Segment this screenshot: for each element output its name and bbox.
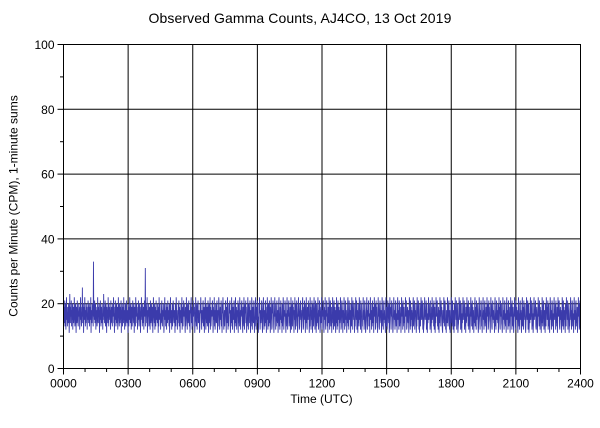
x-tick-label: 1200 (309, 377, 336, 391)
x-tick-label: 1800 (438, 377, 465, 391)
axis-tick-labels: 0000030006000900120015001800210024000204… (34, 38, 594, 391)
x-tick-label: 0000 (50, 377, 77, 391)
y-tick-label: 60 (41, 168, 55, 182)
x-tick-label: 0300 (115, 377, 142, 391)
x-tick-label: 1500 (373, 377, 400, 391)
y-tick-label: 80 (41, 103, 55, 117)
y-tick-label: 100 (34, 38, 54, 52)
x-tick-label: 2400 (567, 377, 594, 391)
gamma-counts-chart: Observed Gamma Counts, AJ4CO, 13 Oct 201… (0, 0, 600, 428)
y-tick-label: 0 (48, 362, 55, 376)
y-tick-label: 40 (41, 232, 55, 246)
x-tick-label: 0900 (244, 377, 271, 391)
plot-area: 0000030006000900120015001800210024000204… (0, 0, 600, 428)
x-tick-label: 2100 (503, 377, 530, 391)
y-tick-label: 20 (41, 297, 55, 311)
x-tick-label: 0600 (179, 377, 206, 391)
